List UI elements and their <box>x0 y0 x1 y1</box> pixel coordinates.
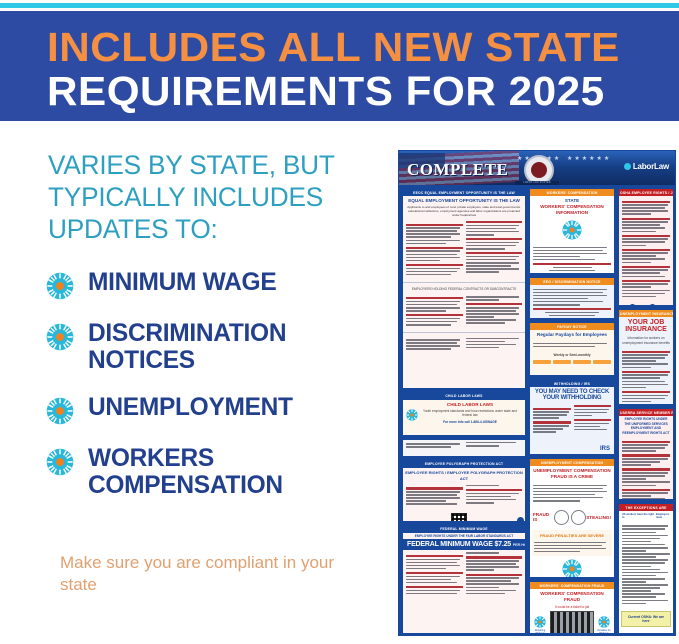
panel-title: UNEMPLOYMENT COMPENSATION FRAUD IS A CRI… <box>530 466 614 481</box>
panel-text-block-3 <box>403 336 525 354</box>
panel-text-block <box>530 481 614 506</box>
promo-page: INCLUDES ALL NEW STATE REQUIREMENTS FOR … <box>0 0 679 644</box>
panel-text-block <box>403 219 525 279</box>
list-item-label: WORKERS COMPENSATION <box>88 445 380 499</box>
panel-header: WORKERS' COMPENSATION <box>530 189 614 196</box>
headline-line-1: INCLUDES ALL NEW STATE <box>47 25 679 69</box>
panel-text-block <box>530 339 614 352</box>
panel-text-block <box>403 550 525 598</box>
osha-seal-icon <box>629 304 636 306</box>
table-cell <box>573 360 591 364</box>
panel-text-block <box>619 196 673 302</box>
poster-header: COMPLETE ★★★★★★ ★★★★★★ LABOR LAW POSTER … <box>399 151 675 185</box>
panel-header: USERRA SERVICE MEMBER RIGHTS <box>619 409 673 416</box>
table-cell <box>593 360 611 364</box>
panel-text-block <box>619 346 673 405</box>
compliance-footnote: Make sure you are compliant in your stat… <box>60 552 360 596</box>
panel-text-block-2 <box>403 293 525 329</box>
panel-subtitle: Applicants to and employees of most priv… <box>403 205 525 219</box>
left-content-column: VARIES BY STATE, BUT TYPICALLY INCLUDES … <box>0 121 392 644</box>
table-cell <box>533 360 551 364</box>
panel-title: Regular Paydays for Employees <box>530 330 614 339</box>
panel-irs-withholding: WITHHOLDING / IRS YOU MAY NEED TO CHECK … <box>529 379 615 455</box>
column-head-2: Employers must <box>656 513 670 520</box>
poster-title: COMPLETE <box>407 160 508 180</box>
laborlaw-brand-logo: LaborLaw <box>624 162 669 171</box>
panel-title: YOU MAY NEED TO CHECK YOUR WITHHOLDING <box>530 387 614 403</box>
panel-text-block <box>530 285 614 319</box>
list-item-label: MINIMUM WAGE <box>88 269 276 296</box>
highlight-box: Current OSHA: We are here <box>621 611 671 627</box>
panel-spacer-notice <box>402 439 526 457</box>
payday-table <box>530 358 614 366</box>
intro-text: VARIES BY STATE, BUT TYPICALLY INCLUDES … <box>48 149 368 245</box>
labor-law-poster: COMPLETE ★★★★★★ ★★★★★★ LABOR LAW POSTER … <box>398 150 676 636</box>
handcuffs-icon <box>554 509 587 525</box>
sunburst-icon <box>562 220 582 240</box>
panel-header: UNEMPLOYMENT COMPENSATION <box>530 459 614 466</box>
panel-workers-comp-info: WORKERS' COMPENSATION STATE WORKERS' COM… <box>529 188 615 274</box>
panel-header: THE EXCEPTIONS ARE <box>619 504 673 511</box>
benefit-list: MINIMUM WAGE <box>46 269 386 515</box>
osha-logo: OSHA <box>629 304 646 306</box>
list-item: DISCRIMINATION NOTICES <box>46 320 386 374</box>
panel-child-labor: CHILD LABOR LAWS CHILD LABOR LAWS Youth … <box>402 392 526 436</box>
dol-seal-icon <box>649 304 656 306</box>
column-head-1: US workers have the right to <box>622 513 654 520</box>
sunburst-icon <box>406 408 418 420</box>
fraud-illustration-row: FRAUD IS STEALING! <box>530 506 614 528</box>
panel-title: STATE <box>530 196 614 204</box>
panel-header: PAYDAY NOTICE <box>530 323 614 330</box>
fraud-right-word: STEALING! <box>586 515 611 520</box>
panel-header: EEO / DISCRIMINATION NOTICE <box>530 278 614 285</box>
panel-header: WITHHOLDING / IRS <box>530 380 614 387</box>
panel-exceptions: THE EXCEPTIONS ARE US workers have the r… <box>618 503 674 634</box>
panel-header: FEDERAL MINIMUM WAGE <box>403 526 525 533</box>
panel-title: YOUR JOB INSURANCE <box>619 317 673 335</box>
sunburst-icon <box>46 397 74 425</box>
sunburst-icon <box>562 559 582 578</box>
panel-eeo: EEOC EQUAL EMPLOYMENT OPPORTUNITY IS THE… <box>402 188 526 389</box>
poster-column-right: OSHA EMPLOYEE RIGHTS / JOB SAFETY AND HE… <box>618 188 674 634</box>
panel-text-block <box>403 440 525 452</box>
list-item: UNEMPLOYMENT <box>46 394 386 425</box>
fraud-penalties-box: FRAUD PENALTIES ARE SEVERE <box>532 530 612 556</box>
panel-title: WORKERS' COMPENSATION FRAUD <box>530 589 614 604</box>
sunburst-icon <box>46 448 74 476</box>
panel-text-block <box>403 483 525 509</box>
panel-osha-job-safety: OSHA EMPLOYEE RIGHTS / JOB SAFETY AND HE… <box>618 188 674 306</box>
stars-right: ★★★★★★ <box>567 155 611 162</box>
panel-subtitle: WORKERS' COMPENSATION INFORMATION <box>530 204 614 217</box>
list-item-label: DISCRIMINATION NOTICES <box>88 320 380 374</box>
list-item: WORKERS COMPENSATION <box>46 445 386 499</box>
panel-userra: USERRA SERVICE MEMBER RIGHTS EMPLOYEE RI… <box>618 408 674 500</box>
sunburst-icon <box>534 615 546 627</box>
panel-minimum-wage: FEDERAL MINIMUM WAGE EMPLOYEE RIGHTS UND… <box>402 525 526 634</box>
panel-discrimination-notice: EEO / DISCRIMINATION NOTICE <box>529 277 615 319</box>
panel-text-block <box>619 436 673 500</box>
qr-code-icon <box>451 513 467 522</box>
header-banner-text: INCLUDES ALL NEW STATE REQUIREMENTS FOR … <box>47 25 669 113</box>
panel-header: OSHA EMPLOYEE RIGHTS / JOB SAFETY AND HE… <box>619 189 673 196</box>
sunburst-icon <box>598 615 610 627</box>
panel-text-block <box>530 243 614 274</box>
panel-header: CHILD LABOR LAWS <box>403 393 525 400</box>
irs-logo: IRS <box>600 446 610 452</box>
panel-subtitle: Youth employment standards and hour rest… <box>418 408 522 419</box>
list-item-label: UNEMPLOYMENT <box>88 394 293 421</box>
agency-badge <box>517 517 525 522</box>
right-caption: Penalties for Workers' Compensation Frau… <box>596 629 612 634</box>
agency-row: OSHA DOL <box>619 302 673 306</box>
panel-text-block <box>530 403 614 437</box>
poster-column-middle: WORKERS' COMPENSATION STATE WORKERS' COM… <box>529 188 615 634</box>
panel-text-block <box>619 522 673 609</box>
list-item: MINIMUM WAGE <box>46 269 386 300</box>
panel-phone: For more info call 1-866-4-USWAGE <box>418 419 522 426</box>
panel-header: WORKERS' COMPENSATION FRAUD <box>530 582 614 589</box>
sunburst-icon <box>46 272 74 300</box>
panel-polygraph: EMPLOYEE POLYGRAPH PROTECTION ACT EMPLOY… <box>402 460 526 522</box>
wage-bar: FEDERAL MINIMUM WAGE $7.25 PER HOUR BEGI… <box>403 539 525 550</box>
panel-header: UNEMPLOYMENT INSURANCE <box>619 310 673 317</box>
panel-workers-comp-fraud: WORKERS' COMPENSATION FRAUD WORKERS' COM… <box>529 581 615 634</box>
sunburst-icon <box>46 323 74 351</box>
wage-bar-label: FEDERAL MINIMUM WAGE $7.25 <box>407 541 511 548</box>
left-caption: Reporting Workers' Comp Fraud Protects E… <box>532 629 548 634</box>
panel-title: EMPLOYEE RIGHTS UNDER THE UNIFORMED SERV… <box>619 416 673 436</box>
panel-payday-notice: PAYDAY NOTICE Regular Paydays for Employ… <box>529 322 615 376</box>
panel-header: EMPLOYEE POLYGRAPH PROTECTION ACT <box>403 461 525 468</box>
panel-subtitle: Information for workers on unemployment … <box>619 335 673 346</box>
poster-column-left: EEOC EQUAL EMPLOYMENT OPPORTUNITY IS THE… <box>402 188 526 634</box>
panel-job-insurance: UNEMPLOYMENT INSURANCE YOUR JOB INSURANC… <box>618 309 674 405</box>
brand-dot-icon <box>624 163 631 170</box>
prison-bars-photo <box>550 611 594 635</box>
panel-title: EMPLOYEE RIGHTS / EMPLOYEE POLYGRAPH PRO… <box>403 468 525 483</box>
brand-label: LaborLaw <box>633 162 669 171</box>
panel-title: EQUAL EMPLOYMENT OPPORTUNITY IS THE LAW <box>403 196 525 205</box>
agency-row <box>403 509 525 522</box>
header-banner: INCLUDES ALL NEW STATE REQUIREMENTS FOR … <box>0 11 679 121</box>
panel-unemployment-fraud: UNEMPLOYMENT COMPENSATION UNEMPLOYMENT C… <box>529 458 615 578</box>
dol-seal-icon <box>517 517 524 522</box>
fraud-left-word: FRAUD IS <box>533 512 554 522</box>
poster-body: EEOC EQUAL EMPLOYMENT OPPORTUNITY IS THE… <box>399 185 675 636</box>
dol-logo: DOL <box>649 304 664 306</box>
table-cell <box>553 360 571 364</box>
panel-header: EEOC EQUAL EMPLOYMENT OPPORTUNITY IS THE… <box>403 189 525 196</box>
penalties-title: FRAUD PENALTIES ARE SEVERE <box>534 532 610 540</box>
headline-line-2: REQUIREMENTS FOR 2025 <box>47 69 679 113</box>
wage-bar-note: PER HOUR BEGINNING JULY 24, 2009 <box>513 542 525 547</box>
